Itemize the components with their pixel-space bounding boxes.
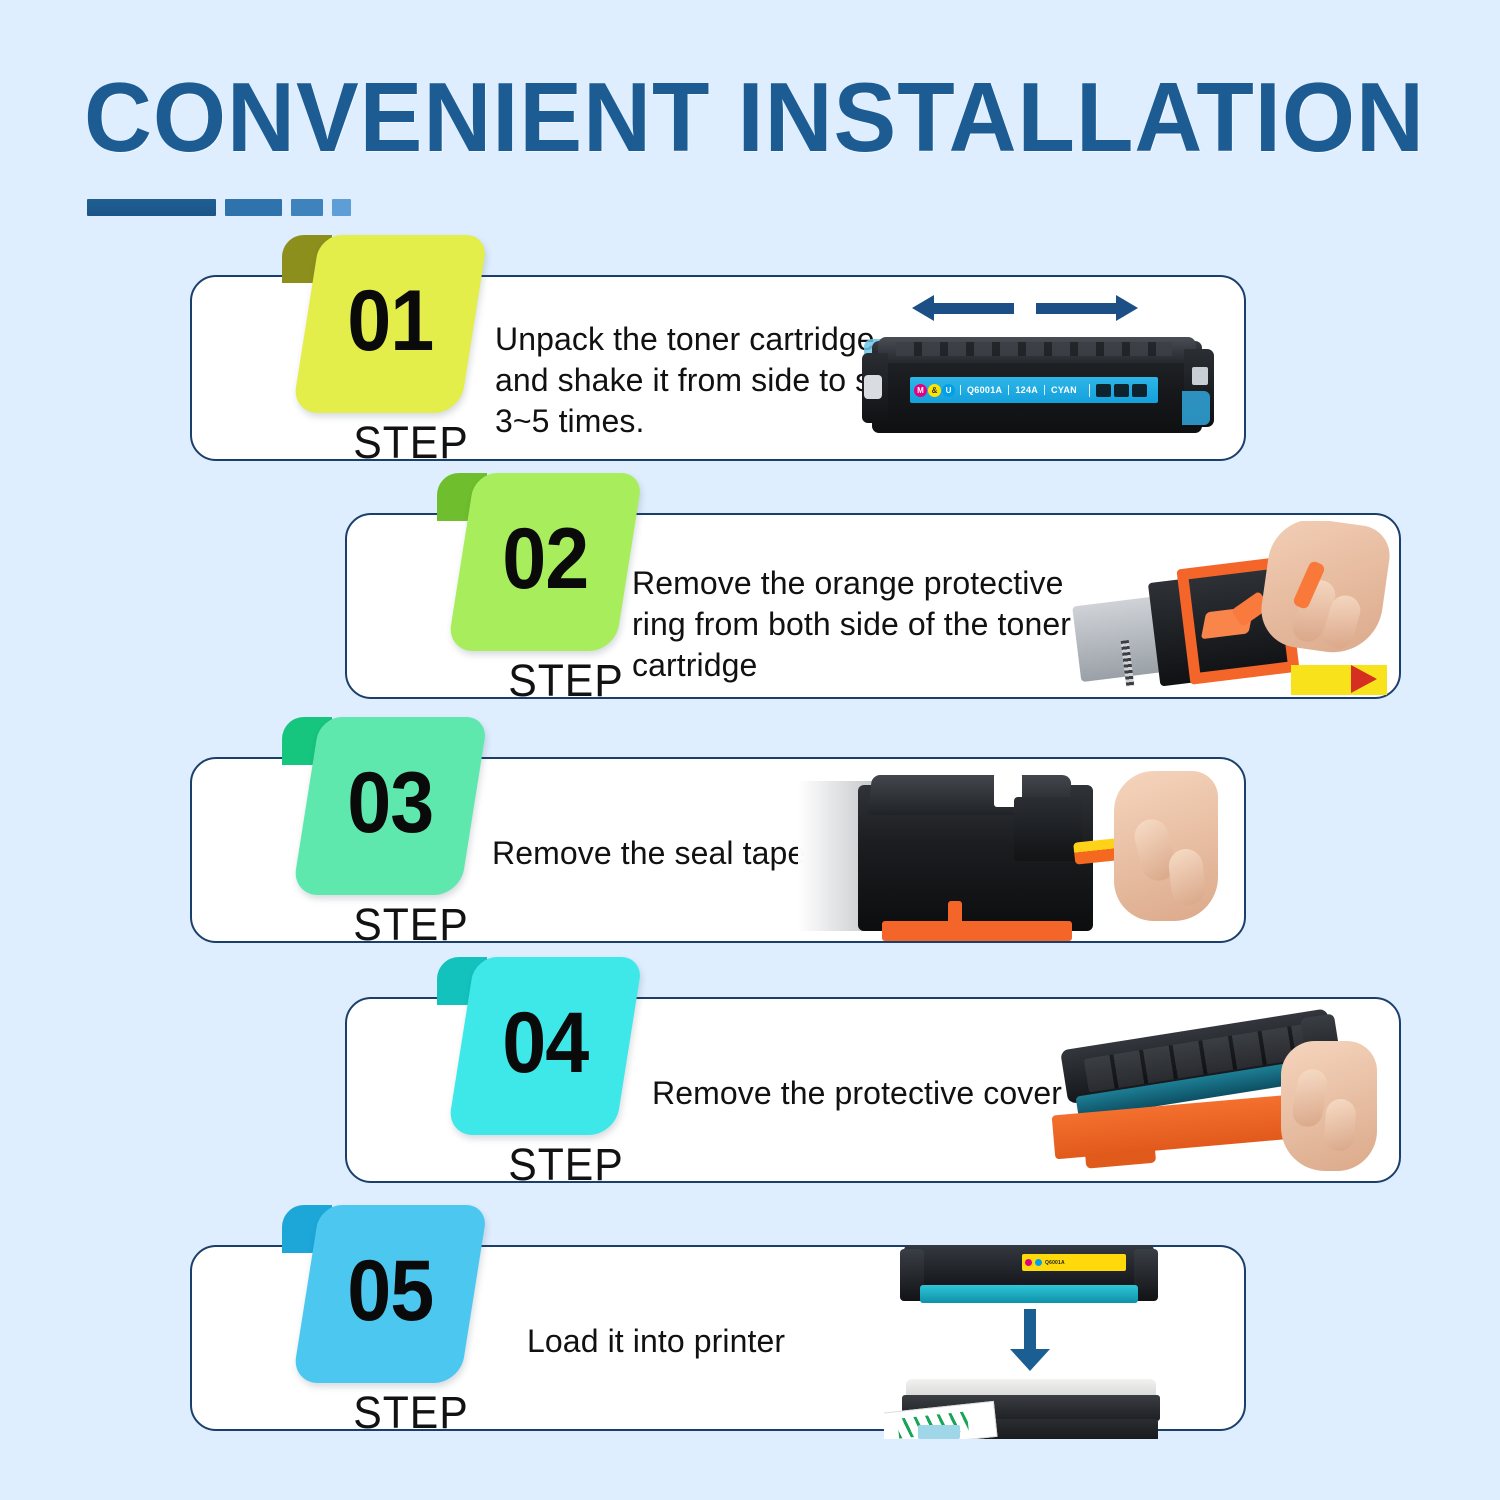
arrow-left-head-icon bbox=[912, 295, 934, 321]
rule-segment-2 bbox=[225, 199, 282, 216]
arrow-right-head-icon bbox=[1116, 295, 1138, 321]
step-number: 01 bbox=[347, 278, 433, 364]
red-arrow-icon bbox=[1351, 665, 1377, 693]
badge-fold-icon bbox=[282, 717, 332, 765]
figure-load-into-printer: Q6001A bbox=[884, 1239, 1184, 1439]
label-dot-magenta bbox=[1025, 1259, 1032, 1266]
badge-fold-icon bbox=[282, 1205, 332, 1253]
logo-dot-u: U bbox=[942, 384, 955, 397]
label-model: 124A bbox=[1008, 385, 1044, 395]
label-dot-cyan bbox=[1035, 1259, 1042, 1266]
step-word-label: STEP bbox=[476, 1139, 657, 1191]
step-description: Remove the orange protective ring from b… bbox=[632, 563, 1102, 686]
label-color-name: CYAN bbox=[1044, 385, 1083, 395]
label-printer-icons bbox=[1089, 384, 1147, 397]
arrow-left-icon bbox=[932, 303, 1014, 314]
printer-icon-3 bbox=[1132, 384, 1147, 397]
down-arrow-head-icon bbox=[1010, 1349, 1050, 1371]
step-number: 04 bbox=[502, 1000, 588, 1086]
step-card-04: 04 STEP Remove the protective cover bbox=[345, 997, 1401, 1183]
cartridge-step-block bbox=[1014, 797, 1082, 861]
step-badge-05: 05 STEP bbox=[282, 1205, 492, 1435]
printer-icon-2 bbox=[1114, 384, 1129, 397]
cartridge-illustration: M & U Q6001A 124A CYAN bbox=[862, 333, 1214, 443]
step-badge-04: 04 STEP bbox=[437, 957, 647, 1187]
title-underline-rule bbox=[87, 199, 351, 216]
down-arrow-stem-icon bbox=[1024, 1309, 1036, 1351]
step-word-label: STEP bbox=[321, 417, 502, 469]
badge-tab: 05 bbox=[292, 1205, 488, 1383]
step-card-05: 05 STEP Load it into printer Q6001A bbox=[190, 1245, 1246, 1431]
label-text: Q6001A bbox=[1045, 1260, 1065, 1266]
orange-tab bbox=[948, 901, 962, 935]
cartridge-yellow-label: Q6001A bbox=[1022, 1254, 1126, 1271]
cartridge-illustration: Q6001A bbox=[904, 1245, 1154, 1307]
step-number: 03 bbox=[347, 760, 433, 846]
rule-segment-4 bbox=[332, 199, 351, 216]
step-badge-03: 03 STEP bbox=[282, 717, 492, 947]
cartridge-chip bbox=[1192, 367, 1208, 385]
step-card-02: 02 STEP Remove the orange protective rin… bbox=[345, 513, 1401, 699]
cartridge-label: M & U Q6001A 124A CYAN bbox=[910, 377, 1158, 403]
step-word-label: STEP bbox=[321, 1387, 502, 1439]
badge-fold-icon bbox=[437, 473, 487, 521]
step-card-03: 03 STEP Remove the seal tape bbox=[190, 757, 1246, 943]
step-badge-02: 02 STEP bbox=[437, 473, 647, 703]
figure-protective-cover-removal bbox=[1047, 1007, 1377, 1177]
logo-dot-amp: & bbox=[928, 384, 941, 397]
step-badge-01: 01 STEP bbox=[282, 235, 492, 465]
cartridge-drum bbox=[920, 1285, 1138, 1303]
step-word-label: STEP bbox=[321, 899, 502, 951]
badge-tab: 02 bbox=[447, 473, 643, 651]
cartridge-top-ribs bbox=[896, 342, 1172, 356]
orange-base bbox=[882, 921, 1072, 941]
rule-segment-3 bbox=[291, 199, 323, 216]
shake-arrows bbox=[910, 291, 1140, 331]
badge-tab: 04 bbox=[447, 957, 643, 1135]
step-number: 02 bbox=[502, 516, 588, 602]
cartridge-blue-edge-right bbox=[1182, 391, 1210, 425]
hand-finger-2 bbox=[1323, 1098, 1357, 1152]
step-description: Unpack the toner cartridge and shake it … bbox=[495, 319, 915, 442]
cartridge-left-knob bbox=[864, 375, 882, 399]
step-word-label: STEP bbox=[476, 655, 657, 707]
cover-lip bbox=[1085, 1149, 1156, 1169]
page-title: CONVENIENT INSTALLATION bbox=[84, 68, 1425, 166]
step-number: 05 bbox=[347, 1248, 433, 1334]
badge-tab: 01 bbox=[292, 235, 488, 413]
figure-toner-cartridge-shake: M & U Q6001A 124A CYAN bbox=[858, 285, 1218, 455]
logo-dot-m: M bbox=[914, 384, 927, 397]
mu-brand-logo-icon: M & U bbox=[914, 384, 955, 397]
arrow-right-icon bbox=[1036, 303, 1118, 314]
figure-seal-tape-removal bbox=[798, 763, 1218, 941]
page-header: CONVENIENT INSTALLATION bbox=[0, 0, 1500, 245]
badge-fold-icon bbox=[437, 957, 487, 1005]
label-part-number: Q6001A bbox=[960, 385, 1008, 395]
printer-icon-1 bbox=[1096, 384, 1111, 397]
step-card-01: 01 STEP Unpack the toner cartridge and s… bbox=[190, 275, 1246, 461]
rule-segment-1 bbox=[87, 199, 216, 216]
printer-control-panel bbox=[918, 1425, 960, 1439]
figure-orange-ring-removal bbox=[1061, 521, 1391, 695]
badge-tab: 03 bbox=[292, 717, 488, 895]
